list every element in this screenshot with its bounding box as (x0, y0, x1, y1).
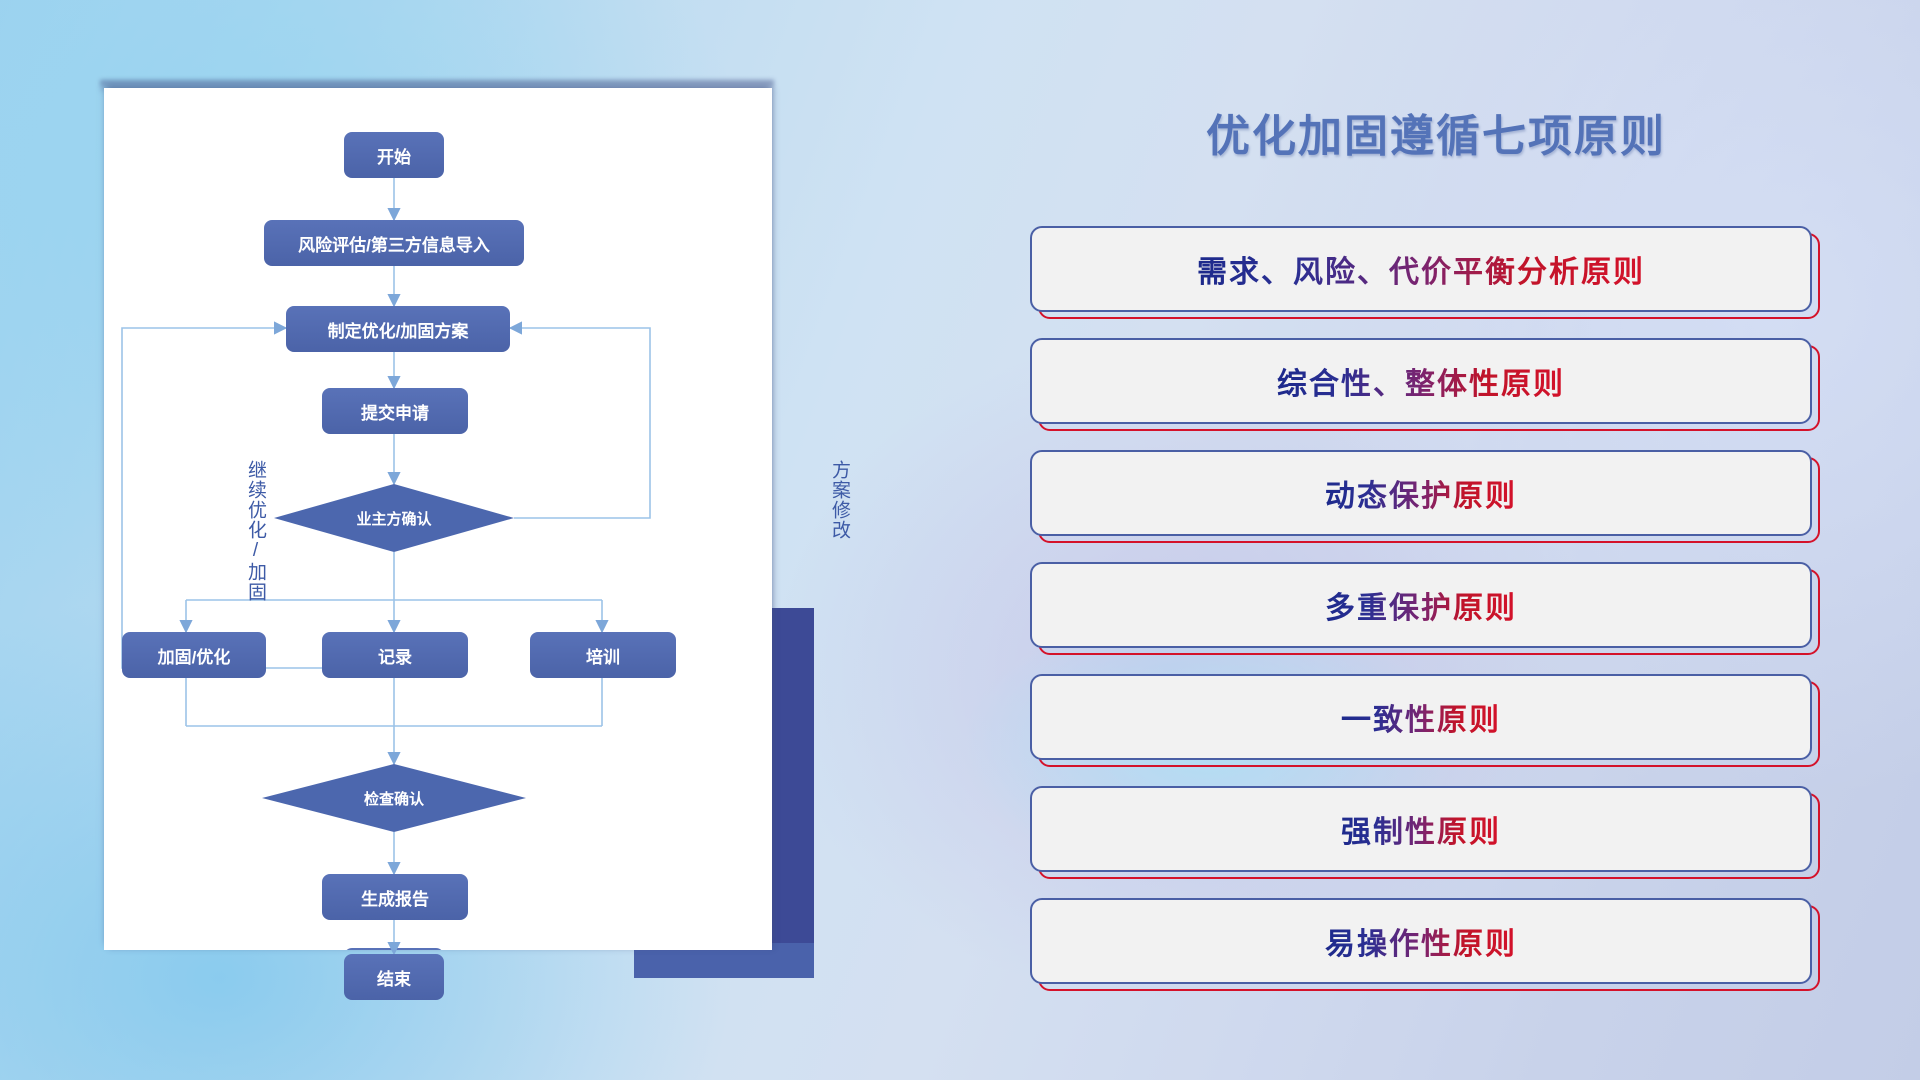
principle-label: 强制性原则 (1341, 807, 1501, 851)
principle-card-6[interactable]: 强制性原则 (1030, 786, 1812, 872)
principle-card-body: 强制性原则 (1030, 786, 1812, 872)
principle-card-body: 动态保护原则 (1030, 450, 1812, 536)
principle-card-4[interactable]: 多重保护原则 (1030, 562, 1812, 648)
flow-node-end[interactable]: 结束 (344, 954, 444, 1000)
principle-card-body: 综合性、整体性原则 (1030, 338, 1812, 424)
principles-panel: 优化加固遵循七项原则 需求、风险、代价平衡分析原则 综合性、整体性原则 动态保护… (1020, 100, 1840, 1010)
principle-card-7[interactable]: 易操作性原则 (1030, 898, 1812, 984)
principle-card-2[interactable]: 综合性、整体性原则 (1030, 338, 1812, 424)
principle-label: 易操作性原则 (1325, 919, 1517, 963)
flow-edge-label-continue-optimize: 继续优化/加固 (246, 460, 265, 602)
principle-label: 综合性、整体性原则 (1277, 359, 1565, 403)
principle-label: 需求、风险、代价平衡分析原则 (1197, 247, 1645, 291)
flow-node-label: 结束 (377, 965, 411, 990)
principle-card-1[interactable]: 需求、风险、代价平衡分析原则 (1030, 226, 1812, 312)
principles-list: 需求、风险、代价平衡分析原则 综合性、整体性原则 动态保护原则 多重保护原则 一 (1020, 226, 1840, 984)
principle-card-body: 一致性原则 (1030, 674, 1812, 760)
principle-card-3[interactable]: 动态保护原则 (1030, 450, 1812, 536)
flowchart-panel: 开始 风险评估/第三方信息导入 制定优化/加固方案 提交申请 业主方确认 加固/… (104, 88, 780, 968)
principle-card-body: 易操作性原则 (1030, 898, 1812, 984)
principle-card-body: 需求、风险、代价平衡分析原则 (1030, 226, 1812, 312)
principle-card-5[interactable]: 一致性原则 (1030, 674, 1812, 760)
principle-label: 一致性原则 (1341, 695, 1501, 739)
principle-label: 多重保护原则 (1325, 583, 1517, 627)
principle-label: 动态保护原则 (1325, 471, 1517, 515)
principles-title: 优化加固遵循七项原则 (1032, 100, 1840, 164)
flowchart-end-connector (104, 88, 780, 968)
flow-edge-label-plan-revision: 方案修改 (830, 460, 849, 540)
principle-card-body: 多重保护原则 (1030, 562, 1812, 648)
